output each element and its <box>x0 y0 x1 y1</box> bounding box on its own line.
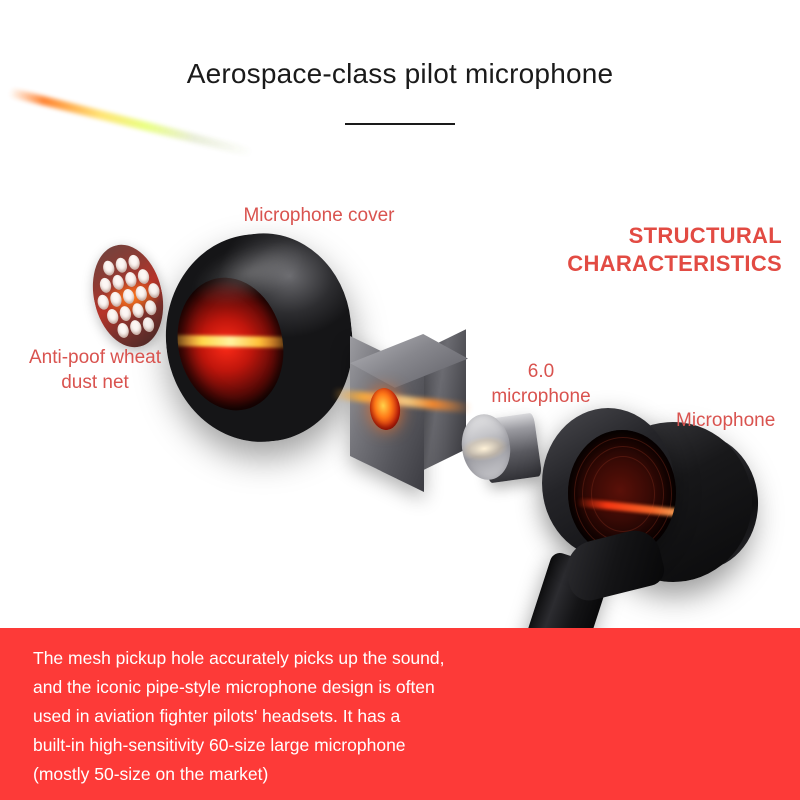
mesh-hole <box>144 299 158 316</box>
mesh-hole <box>115 322 129 339</box>
description-panel: The mesh pickup hole accurately picks up… <box>0 628 800 800</box>
mesh-hole <box>96 293 110 310</box>
bore-ring <box>591 456 655 532</box>
light-streak-icon <box>9 88 254 157</box>
callout-60-microphone: 6.0 microphone <box>466 359 616 409</box>
mesh-dust-net-icon <box>83 238 173 355</box>
description-text: The mesh pickup hole accurately picks up… <box>33 644 533 789</box>
mesh-hole <box>106 307 120 324</box>
mesh-hole <box>98 276 112 293</box>
mesh-hole <box>108 290 122 307</box>
mesh-hole <box>118 305 132 322</box>
mesh-hole <box>146 282 160 299</box>
callout-microphone: Microphone <box>676 408 800 433</box>
callout-dust-net: Anti-poof wheat dust net <box>0 345 190 395</box>
mesh-hole <box>101 259 115 276</box>
mesh-hole <box>124 270 138 287</box>
mesh-hole <box>131 302 145 319</box>
mesh-hole <box>121 287 135 304</box>
microphone-cover-icon <box>156 225 363 451</box>
callout-microphone-cover: Microphone cover <box>224 203 414 228</box>
mesh-hole <box>136 267 150 284</box>
product-feature-graphic: Aerospace-class pilot microphone STRUCTU… <box>0 0 800 800</box>
mesh-hole <box>114 256 128 273</box>
cube-housing-icon <box>348 338 474 490</box>
mesh-hole <box>126 253 140 270</box>
mesh-hole <box>134 285 148 302</box>
mesh-hole <box>128 319 142 336</box>
mesh-hole <box>141 316 155 333</box>
mesh-hole <box>111 273 125 290</box>
